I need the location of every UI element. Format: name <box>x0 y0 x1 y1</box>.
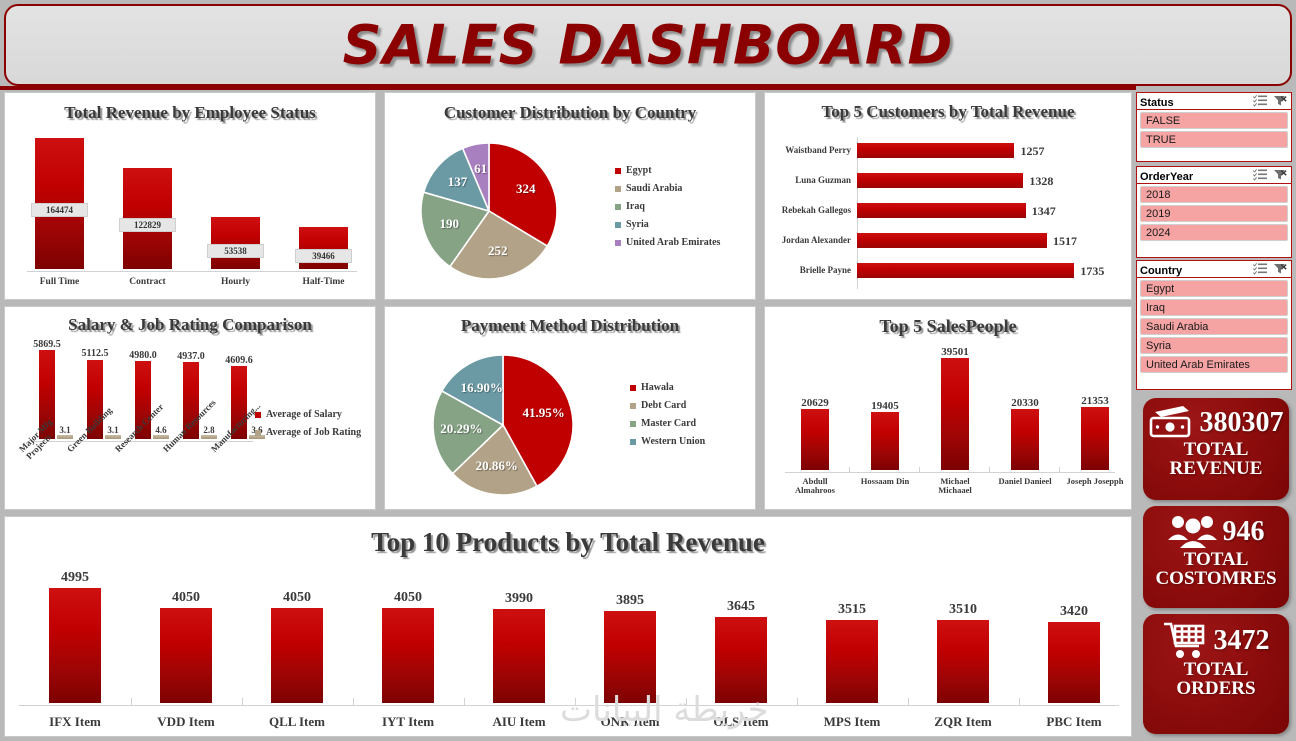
multi-select-icon[interactable] <box>1253 169 1267 181</box>
bar-value-label: 20330 <box>995 397 1055 409</box>
kpi-card-costomres[interactable]: 946TOTALCOSTOMRES <box>1143 506 1289 608</box>
axis-tick <box>1059 467 1060 473</box>
bar-value-label-salary: 4937.0 <box>170 351 212 362</box>
bar-value-label: 164474 <box>31 203 88 217</box>
category-label: Full Time <box>19 277 100 287</box>
slicer-item-united-arab-emirates[interactable]: United Arab Emirates <box>1140 356 1288 373</box>
bar-value-label: 3895 <box>582 593 678 609</box>
slicer-item-saudi-arabia[interactable]: Saudi Arabia <box>1140 318 1288 335</box>
bar-value-label-salary: 5112.5 <box>74 348 116 359</box>
slicer-item-2024[interactable]: 2024 <box>1140 224 1288 241</box>
slicer-status[interactable]: Status FALSETRUE <box>1136 92 1292 162</box>
kpi-caption-line1: TOTAL <box>1143 440 1289 459</box>
bar-value-label: 4050 <box>138 590 234 606</box>
legend-item: Average of Salary <box>255 409 361 420</box>
chart-panel-top10-products: Top 10 Products by Total Revenue 4995IFX… <box>4 516 1132 737</box>
bar-value-label: 1328 <box>1029 174 1053 189</box>
bar-job-rating <box>201 435 217 439</box>
bar <box>1011 409 1039 470</box>
bar-value-label-salary: 4609.6 <box>218 355 260 366</box>
bar <box>715 617 767 703</box>
pie-value-label: 324 <box>512 181 540 197</box>
chart-panel-salary-job-rating: Salary & Job Rating Comparison 5869.53.1… <box>4 306 376 510</box>
legend-swatch <box>630 421 636 427</box>
kpi-value-row: 380307 <box>1143 406 1289 440</box>
kpi-caption-line2: ORDERS <box>1143 679 1289 698</box>
category-label: ONK Item <box>578 714 682 730</box>
pie-value-label: 41.95% <box>517 405 571 421</box>
kpi-value-row: 946 <box>1143 514 1289 550</box>
bar <box>871 412 899 470</box>
slicer-item-true[interactable]: TRUE <box>1140 131 1288 148</box>
category-label: Brielle Payne <box>765 265 851 275</box>
bar-value-label: 1257 <box>1020 144 1044 159</box>
legend-label: Average of Job Rating <box>266 427 361 438</box>
bar-job-rating <box>57 435 73 439</box>
bar <box>857 143 1014 158</box>
chart-panel-revenue-by-employee-status: Total Revenue by Employee Status 164474F… <box>4 92 376 300</box>
bar-value-label-salary: 4980.0 <box>122 350 164 361</box>
bar-value-label: 1347 <box>1032 204 1056 219</box>
kpi-caption-line1: TOTAL <box>1143 550 1289 569</box>
slicer-title-status: Status <box>1140 97 1174 109</box>
axis-tick <box>686 698 687 706</box>
bar-value-label: 4050 <box>360 590 456 606</box>
slicer-orderyear[interactable]: OrderYear 201820192024 <box>1136 166 1292 258</box>
legend-swatch <box>615 186 621 192</box>
kpi-caption-line2: REVENUE <box>1143 459 1289 478</box>
bar-value-label: 3510 <box>915 602 1011 618</box>
kpi-value: 3472 <box>1214 625 1270 657</box>
bar-value-label: 122829 <box>119 218 176 232</box>
bar <box>801 409 829 470</box>
legend-label: Debt Card <box>641 400 686 411</box>
kpi-caption-line1: TOTAL <box>1143 660 1289 679</box>
axis-tick <box>849 467 850 473</box>
multi-select-icon[interactable] <box>1253 263 1267 275</box>
slicer-title-orderyear: OrderYear <box>1140 171 1193 183</box>
bar-value-label: 1735 <box>1080 264 1104 279</box>
bar-value-label: 21353 <box>1065 395 1125 407</box>
category-label: Contract <box>107 277 188 287</box>
legend-label: United Arab Emirates <box>626 237 720 248</box>
slicer-header-status: Status <box>1137 93 1291 110</box>
bar <box>271 608 323 703</box>
chart-plot-top5-customers: 1257Waistband Perry1328Luna Guzman1347Re… <box>765 93 1131 299</box>
clear-filter-icon[interactable] <box>1273 95 1287 107</box>
legend-salary-job-rating: Average of SalaryAverage of Job Rating <box>255 409 361 445</box>
chart-plot-top5-salespeople: 20629Abdull Almahroos19405Hossaam Din395… <box>765 307 1131 509</box>
bar <box>857 263 1074 278</box>
slicer-icon-group[interactable] <box>1253 169 1287 181</box>
slicer-country[interactable]: Country EgyptIraqSaudi ArabiaSyriaUnited… <box>1136 260 1292 390</box>
axis-tick <box>989 467 990 473</box>
legend-label: Iraq <box>626 201 645 212</box>
bar-value-label: 4995 <box>27 570 123 586</box>
bar-value-label: 1517 <box>1053 234 1077 249</box>
axis-tick <box>464 698 465 706</box>
category-label: Rebekah Gallegos <box>765 205 851 215</box>
bar <box>857 203 1026 218</box>
slicer-item-2018[interactable]: 2018 <box>1140 186 1288 203</box>
legend-swatch <box>255 430 261 436</box>
bar <box>937 620 989 703</box>
x-axis-line <box>27 271 357 272</box>
legend-item: Hawala <box>630 382 705 393</box>
bar <box>941 358 969 470</box>
bar <box>49 588 101 703</box>
clear-filter-icon[interactable] <box>1273 169 1287 181</box>
category-label: Hourly <box>195 277 276 287</box>
legend-label: Hawala <box>641 382 674 393</box>
slicer-header-country: Country <box>1137 261 1291 278</box>
legend-payment-method: HawalaDebt CardMaster CardWestern Union <box>630 382 705 454</box>
pie-value-label: 190 <box>435 216 463 232</box>
multi-select-icon[interactable] <box>1253 95 1267 107</box>
category-label: Hossaam Din <box>853 477 917 486</box>
bar-value-label: 3515 <box>804 602 900 618</box>
slicer-header-orderyear: OrderYear <box>1137 167 1291 184</box>
legend-label: Saudi Arabia <box>626 183 682 194</box>
chart-title-customer-distribution: Customer Distribution by Country <box>385 103 755 123</box>
category-label: QLL Item <box>245 714 349 730</box>
axis-tick <box>797 698 798 706</box>
legend-swatch <box>615 222 621 228</box>
category-label: Abdull Almahroos <box>783 477 847 496</box>
legend-swatch <box>615 240 621 246</box>
legend-item: Average of Job Rating <box>255 427 361 438</box>
bar-value-label-salary: 5869.5 <box>26 339 68 350</box>
bar <box>160 608 212 703</box>
bar <box>1081 407 1109 470</box>
bar-job-rating <box>105 435 121 439</box>
category-label: Michael Michaael <box>923 477 987 496</box>
category-label: Jordan Alexander <box>765 235 851 245</box>
bar-value-label: 3420 <box>1026 604 1122 620</box>
chart-panel-payment-method: Payment Method Distribution HawalaDebt C… <box>384 306 756 510</box>
legend-item: Saudi Arabia <box>615 183 720 194</box>
bar <box>857 233 1047 248</box>
slicer-item-syria[interactable]: Syria <box>1140 337 1288 354</box>
legend-item: Syria <box>615 219 720 230</box>
legend-swatch <box>255 412 261 418</box>
category-label: OLS Item <box>689 714 793 730</box>
money-icon <box>1149 406 1195 440</box>
chart-title-payment-method: Payment Method Distribution <box>385 316 755 336</box>
legend-item: Egypt <box>615 165 720 176</box>
bar-value-label: 4050 <box>249 590 345 606</box>
bar-value-label: 19405 <box>855 400 915 412</box>
bar <box>857 173 1023 188</box>
x-axis-line <box>19 705 1119 706</box>
category-label: IYT Item <box>356 714 460 730</box>
category-label: VDD Item <box>134 714 238 730</box>
bar <box>382 608 434 703</box>
bar-value-label: 39466 <box>295 249 352 263</box>
chart-plot-salary-job-rating: 5869.53.1Major Mfg Projects5112.53.1Gree… <box>5 307 375 509</box>
bar <box>1048 622 1100 703</box>
kpi-value: 946 <box>1223 516 1265 548</box>
kpi-caption-line2: COSTOMRES <box>1143 569 1289 588</box>
bar <box>604 611 656 703</box>
category-label: MPS Item <box>800 714 904 730</box>
legend-customer-distribution: EgyptSaudi ArabiaIraqSyriaUnited Arab Em… <box>615 165 720 255</box>
legend-swatch <box>630 439 636 445</box>
slicer-title-country: Country <box>1140 265 1182 277</box>
chart-plot-revenue-by-employee-status: 164474Full Time122829Contract53538Hourly… <box>5 93 375 299</box>
bar <box>826 620 878 703</box>
legend-item: United Arab Emirates <box>615 237 720 248</box>
slicer-icon-group[interactable] <box>1253 263 1287 275</box>
slicer-item-2019[interactable]: 2019 <box>1140 205 1288 222</box>
chart-plot-top10-products: 4995IFX Item4050VDD Item4050QLL Item4050… <box>5 517 1131 736</box>
legend-item: Master Card <box>630 418 705 429</box>
legend-swatch <box>630 385 636 391</box>
chart-panel-customer-distribution: Customer Distribution by Country EgyptSa… <box>384 92 756 300</box>
slicer-item-iraq[interactable]: Iraq <box>1140 299 1288 316</box>
bar <box>493 609 545 703</box>
legend-item: Debt Card <box>630 400 705 411</box>
axis-tick <box>353 698 354 706</box>
legend-label: Master Card <box>641 418 696 429</box>
slicer-item-false[interactable]: FALSE <box>1140 112 1288 129</box>
legend-label: Average of Salary <box>266 409 342 420</box>
category-label: Half-Time <box>283 277 364 287</box>
bar-value-label: 20629 <box>785 397 845 409</box>
pie-value-label: 252 <box>484 243 512 259</box>
bar-value-label: 3990 <box>471 591 567 607</box>
bar-job-rating <box>153 435 169 439</box>
pie-value-label: 61 <box>467 161 495 177</box>
kpi-value: 380307 <box>1200 407 1284 439</box>
header-divider-rule <box>0 86 1136 90</box>
bar-value-label: 53538 <box>207 244 264 258</box>
legend-item: Iraq <box>615 201 720 212</box>
pie-value-label: 16.90% <box>455 380 509 396</box>
category-label: IFX Item <box>23 714 127 730</box>
people-icon <box>1168 514 1218 550</box>
axis-tick <box>919 467 920 473</box>
legend-swatch <box>615 168 621 174</box>
chart-panel-top5-salespeople: Top 5 SalesPeople 20629Abdull Almahroos1… <box>764 306 1132 510</box>
bar-value-label: 3645 <box>693 599 789 615</box>
legend-label: Western Union <box>641 436 705 447</box>
clear-filter-icon[interactable] <box>1273 263 1287 275</box>
slicer-item-egypt[interactable]: Egypt <box>1140 280 1288 297</box>
category-label: AIU Item <box>467 714 571 730</box>
bar-value-label: 39501 <box>925 346 985 358</box>
pie-value-label: 20.29% <box>434 421 488 437</box>
axis-tick <box>242 698 243 706</box>
legend-label: Syria <box>626 219 649 230</box>
kpi-value-row: 3472 <box>1143 622 1289 660</box>
pie-value-label: 20.86% <box>470 458 524 474</box>
legend-swatch <box>615 204 621 210</box>
slicer-icon-group[interactable] <box>1253 95 1287 107</box>
chart-panel-top5-customers: Top 5 Customers by Total Revenue 1257Wai… <box>764 92 1132 300</box>
x-axis-line <box>785 472 1115 473</box>
category-label: Waistband Perry <box>765 145 851 155</box>
legend-swatch <box>630 403 636 409</box>
cart-icon <box>1163 622 1209 660</box>
axis-tick <box>575 698 576 706</box>
category-label: PBC Item <box>1022 714 1126 730</box>
kpi-card-revenue[interactable]: 380307TOTALREVENUE <box>1143 398 1289 500</box>
category-label: Luna Guzman <box>765 175 851 185</box>
legend-label: Egypt <box>626 165 652 176</box>
legend-item: Western Union <box>630 436 705 447</box>
page-title: SALES DASHBOARD <box>6 14 1290 77</box>
axis-tick <box>131 698 132 706</box>
category-label: Joseph Josepph <box>1063 477 1127 486</box>
kpi-card-orders[interactable]: 3472TOTALORDERS <box>1143 614 1289 734</box>
axis-tick <box>908 698 909 706</box>
axis-tick <box>1019 698 1020 706</box>
category-label: ZQR Item <box>911 714 1015 730</box>
dashboard-header: SALES DASHBOARD <box>4 4 1292 86</box>
category-label: Daniel Danieel <box>993 477 1057 486</box>
